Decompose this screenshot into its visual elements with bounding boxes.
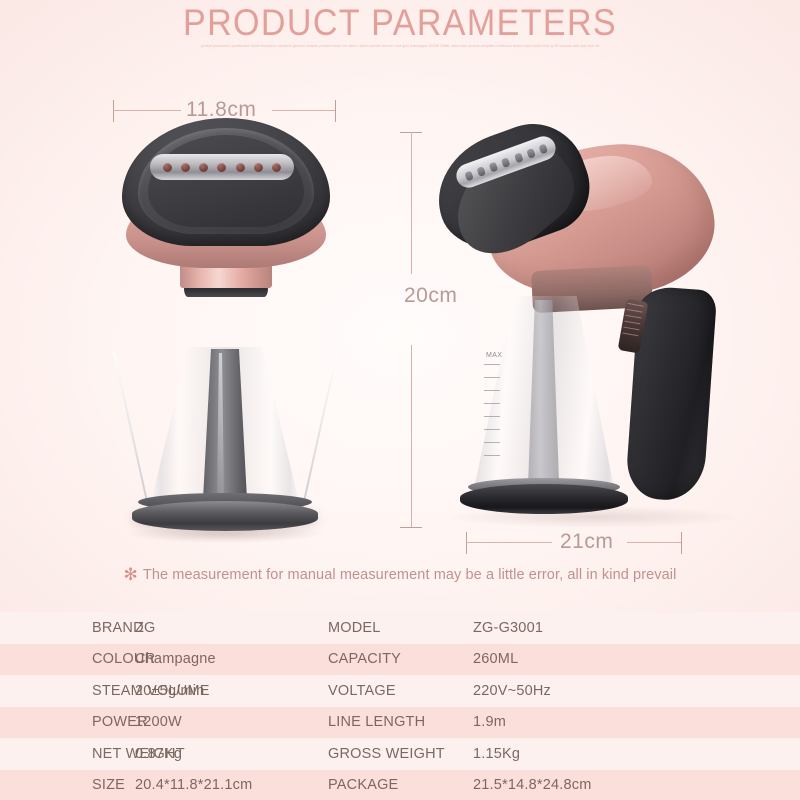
table-row: SIZE 20.4*11.8*21.1cm PACKAGE 21.5*14.8*… xyxy=(0,770,800,800)
water-tank-edge-left xyxy=(113,351,151,515)
steam-hole-icon xyxy=(199,163,208,172)
decorative-subtext: product parameters specification detail … xyxy=(0,44,800,72)
width-dimension-line-left xyxy=(113,110,181,111)
measurement-disclaimer-text: The measurement for manual measurement m… xyxy=(143,567,677,583)
spec-value: 220V~50Hz xyxy=(473,683,800,699)
spec-value: 20±5g/min xyxy=(135,683,328,699)
product-image-front-view xyxy=(118,118,333,533)
steam-hole-icon xyxy=(476,166,486,177)
spec-value: 21.5*14.8*24.8cm xyxy=(473,777,800,793)
steam-hole-icon xyxy=(514,152,524,163)
width-dimension-tick-right xyxy=(335,100,336,122)
asterisk-icon: ✻ xyxy=(124,565,138,584)
table-row: BRAND ZG MODEL ZG-G3001 xyxy=(0,612,800,644)
spec-value: ZG xyxy=(135,620,328,636)
table-row: POWER 1200W LINE LENGTH 1.9m xyxy=(0,707,800,739)
width-dimension-line-right xyxy=(272,110,335,111)
steam-hole-icon xyxy=(236,163,245,172)
table-row: COLOUR Champagne CAPACITY 260ML xyxy=(0,644,800,676)
steam-head xyxy=(122,118,330,246)
spec-key: PACKAGE xyxy=(328,777,473,793)
height-dimension-line-top xyxy=(411,132,412,274)
steam-hole-icon xyxy=(538,143,548,154)
spec-key: BRAND xyxy=(0,620,135,636)
product-parameters-page: PRODUCT PARAMETERS product parameters sp… xyxy=(0,0,800,800)
steam-hole-icon xyxy=(181,163,190,172)
spec-key: VOLTAGE xyxy=(328,683,473,699)
spec-key: CAPACITY xyxy=(328,651,473,667)
spec-value: ZG-G3001 xyxy=(473,620,800,636)
spec-key: GROSS WEIGHT xyxy=(328,746,473,762)
spec-key: STEAM VOLUME xyxy=(0,683,135,699)
spec-key: MODEL xyxy=(328,620,473,636)
tank-graduation-marks xyxy=(484,364,500,472)
page-title: PRODUCT PARAMETERS xyxy=(32,2,768,44)
table-row: NET WEIGHT 0.87Kg GROSS WEIGHT 1.15Kg xyxy=(0,738,800,770)
spec-table: BRAND ZG MODEL ZG-G3001 COLOUR Champagne… xyxy=(0,612,800,800)
depth-dimension-line-left xyxy=(466,542,552,543)
base xyxy=(460,484,628,514)
height-dimension-tick-bottom xyxy=(400,527,422,528)
water-tank-edge-right xyxy=(300,351,338,515)
spec-value: 20.4*11.8*21.1cm xyxy=(135,777,328,793)
steam-hole-icon xyxy=(163,163,172,172)
spec-key: POWER xyxy=(0,714,135,730)
spec-key: COLOUR xyxy=(0,651,135,667)
spec-value: 260ML xyxy=(473,651,800,667)
spec-key: LINE LENGTH xyxy=(328,714,473,730)
table-row: STEAM VOLUME 20±5g/min VOLTAGE 220V~50Hz xyxy=(0,675,800,707)
steam-hole-icon xyxy=(489,161,499,172)
steam-hole-icon xyxy=(272,163,281,172)
width-dimension-tick-left xyxy=(113,100,114,122)
steam-hole-icon xyxy=(501,157,511,168)
spec-key: NET WEIGHT xyxy=(0,746,135,762)
steam-hole-icon xyxy=(217,163,226,172)
spec-value: 1.15Kg xyxy=(473,746,800,762)
spec-value: Champagne xyxy=(135,651,328,667)
product-image-angled-view: MAX xyxy=(436,118,756,538)
steam-hole-icon xyxy=(526,148,536,159)
steam-hole-icon xyxy=(464,170,474,181)
tank-max-label: MAX xyxy=(486,352,502,359)
height-dimension-line-bottom xyxy=(411,345,412,527)
measurement-disclaimer: ✻The measurement for manual measurement … xyxy=(0,565,800,585)
spec-value: 1200W xyxy=(135,714,328,730)
depth-dimension-line-right xyxy=(627,542,681,543)
steam-hole-icon xyxy=(254,163,263,172)
base xyxy=(132,501,318,531)
steam-plate xyxy=(150,154,294,180)
spec-value: 0.87Kg xyxy=(135,746,328,762)
spec-key: SIZE xyxy=(0,777,135,793)
spec-value: 1.9m xyxy=(473,714,800,730)
